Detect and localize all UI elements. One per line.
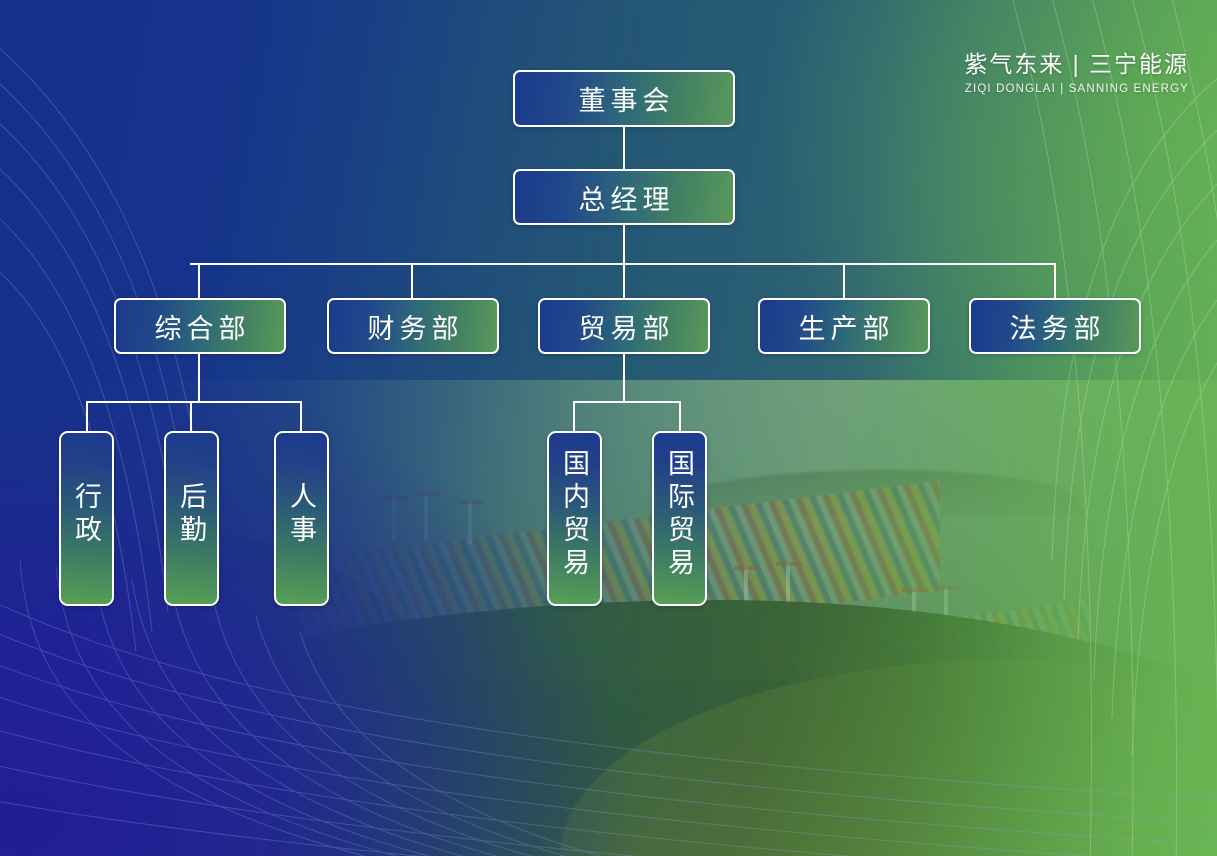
connector-drop-production	[843, 263, 845, 298]
brand-name-en: ZIQI DONGLAI | SANNING ENERGY	[964, 81, 1189, 97]
connector-drop-legal	[1054, 263, 1056, 298]
connector-drop-general	[198, 263, 200, 298]
node-human-resources[interactable]: 人事	[274, 431, 329, 606]
org-chart: 董事会 总经理 综合部 财务部 贸易部 生产部 法务部 行政 后勤 人事 国内贸…	[0, 0, 1217, 856]
node-board[interactable]: 董事会	[513, 70, 735, 127]
node-legal-dept[interactable]: 法务部	[969, 298, 1141, 354]
connector-trade-bus	[573, 401, 681, 403]
node-trade-dept[interactable]: 贸易部	[538, 298, 710, 354]
node-general-affairs-dept[interactable]: 综合部	[114, 298, 286, 354]
connector-drop-domestic	[573, 401, 575, 431]
connector-gm-stem	[623, 224, 625, 264]
node-general-manager[interactable]: 总经理	[513, 169, 735, 225]
node-international-trade[interactable]: 国际贸易	[652, 431, 707, 606]
brand-logo: 紫气东来 | 三宁能源 ZIQI DONGLAI | SANNING ENERG…	[964, 50, 1189, 97]
connector-drop-admin	[86, 401, 88, 431]
connector-drop-trade	[623, 263, 625, 298]
connector-general-stem	[198, 354, 200, 402]
connector-board-to-gm	[623, 126, 625, 170]
node-production-dept[interactable]: 生产部	[758, 298, 930, 354]
node-domestic-trade[interactable]: 国内贸易	[547, 431, 602, 606]
connector-drop-finance	[411, 263, 413, 298]
connector-drop-logistics	[190, 401, 192, 431]
connector-drop-intl	[679, 401, 681, 431]
connector-drop-hr	[300, 401, 302, 431]
org-chart-poster: 紫气东来 | 三宁能源 ZIQI DONGLAI | SANNING ENERG…	[0, 0, 1217, 856]
brand-name-cn: 紫气东来 | 三宁能源	[964, 50, 1189, 79]
connector-trade-stem	[623, 354, 625, 402]
connector-general-bus	[86, 401, 302, 403]
node-administration[interactable]: 行政	[59, 431, 114, 606]
node-logistics[interactable]: 后勤	[164, 431, 219, 606]
node-finance-dept[interactable]: 财务部	[327, 298, 499, 354]
